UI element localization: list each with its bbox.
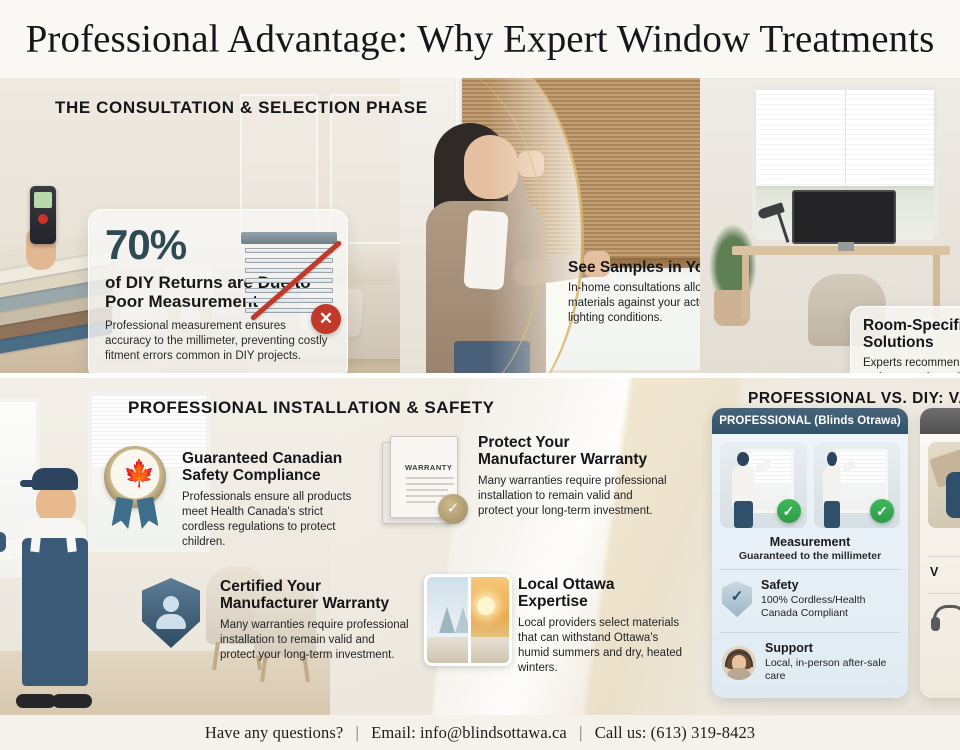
glove [0, 532, 6, 552]
feature-title: Protect Your Manufacturer Warranty [478, 434, 668, 469]
contact-footer: Have any questions? | Email: info@blinds… [0, 715, 960, 750]
headset-agent-icon [722, 646, 756, 680]
sun-icon [477, 597, 495, 615]
installation-photo: ✓ [814, 442, 901, 528]
legs [824, 501, 840, 528]
comparison-heading: PROFESSIONAL VS. DIY: VALUE [748, 390, 960, 408]
feature-body: Many warranties require professional ins… [220, 618, 410, 663]
blind-headrail [241, 232, 337, 244]
four-season-window-icon [424, 574, 512, 666]
consultation-section: See Samples in Your Own Light In-home co… [0, 78, 960, 375]
footer-question: Have any questions? [205, 723, 343, 742]
shoulders [727, 668, 751, 680]
certificate-label: WARRANTY [405, 463, 452, 472]
diy-row-value: V [928, 556, 960, 586]
overalls [22, 538, 88, 686]
feature-local-ottawa: Local Ottawa Expertise Local providers s… [518, 576, 688, 675]
page-title: Professional Advantage: Why Expert Windo… [26, 17, 935, 62]
certificate-seal-icon: ✓ [438, 494, 468, 524]
feature-title: Certified Your Manufacturer Warranty [220, 578, 410, 613]
head [827, 452, 837, 466]
maple-leaf-medal-icon: 🍁 [104, 446, 166, 524]
maple-leaf-icon: 🍁 [123, 459, 147, 489]
diy-row-support [928, 593, 960, 639]
feature-protect-warranty: Protect Your Manufacturer Warranty Many … [478, 434, 668, 519]
shirt [463, 210, 508, 291]
head [737, 452, 749, 466]
comparison-column-professional: PROFESSIONAL (Blinds Otrawa) ✓ [712, 408, 908, 698]
footer-email[interactable]: Email: info@blindsottawa.ca [371, 723, 567, 742]
headset-icon [930, 603, 960, 633]
window-mullion [468, 577, 471, 663]
caption-title: Measurement [720, 535, 900, 549]
shield-check-icon [722, 581, 752, 617]
feature-title: Local Ottawa Expertise [518, 576, 688, 611]
samples-text-block: See Samples in Your Own Light In-home co… [568, 259, 700, 326]
diy-photo [928, 442, 960, 528]
person [946, 472, 960, 518]
installation-section-heading: PROFESSIONAL INSTALLATION & SAFETY [128, 398, 494, 418]
footer-separator: | [356, 723, 359, 742]
professional-column-header: PROFESSIONAL (Blinds Otrawa) [712, 408, 908, 434]
shoe [16, 694, 56, 708]
room-card-title: Room-Specific Solutions [863, 317, 960, 351]
legs [734, 501, 753, 528]
x-badge-icon: ✕ [311, 304, 341, 334]
comparison-column-diy: DIY High V [920, 408, 960, 698]
installer-figure [8, 468, 100, 698]
row-title: Support [765, 642, 898, 656]
jeans [454, 341, 530, 375]
plant-icon [706, 218, 760, 298]
shade-divider [845, 90, 846, 186]
infographic-poster: Professional Advantage: Why Expert Windo… [0, 0, 960, 750]
feature-body: Local providers select materials that ca… [518, 616, 688, 676]
room-specific-card: Room-Specific Solutions Experts recommen… [850, 306, 960, 375]
consultation-scene: See Samples in Your Own Light In-home co… [400, 78, 700, 375]
caption-title: High [928, 535, 960, 549]
row-title: Safety [761, 579, 898, 593]
consultation-section-heading: THE CONSULTATION & SELECTION PHASE [55, 98, 428, 118]
comparison-row-safety: Safety 100% Cordless/Health Canada Compl… [720, 569, 900, 625]
warranty-certificate-icon: WARRANTY ✓ [382, 436, 466, 524]
row-sub: Local, in-person after-sale care [765, 657, 898, 683]
check-badge-icon: ✓ [870, 499, 894, 523]
worker-figure [817, 449, 850, 528]
caption-sub: Guaranteed to the millimeter [720, 550, 900, 562]
feature-body: Many warranties require professional ins… [478, 474, 668, 519]
laser-measure-icon [30, 186, 56, 244]
measurement-caption: Measurement Guaranteed to the millimeter [720, 535, 900, 562]
monitor-icon [792, 190, 896, 244]
feature-body: Professionals ensure all products meet H… [182, 490, 358, 550]
body [823, 466, 841, 506]
diy-column-header: DIY [920, 408, 960, 434]
broken-blind-icon: ✕ [241, 232, 337, 328]
row-title: V [930, 566, 938, 580]
shoe [52, 694, 92, 708]
feature-certified-warranty: Certified Your Manufacturer Warranty Man… [220, 578, 410, 663]
check-badge-icon: ✓ [777, 499, 801, 523]
body [732, 466, 754, 506]
samples-title: See Samples in Your Own Light [568, 259, 700, 276]
footer-phone[interactable]: Call us: (613) 319-8423 [595, 723, 755, 742]
feature-title: Guaranteed Canadian Safety Compliance [182, 450, 358, 485]
footer-separator: | [579, 723, 582, 742]
tree-icon [439, 607, 455, 633]
measurement-photo: ✓ [720, 442, 807, 528]
consultant-figure [408, 105, 598, 375]
comparison-panel: PROFESSIONAL VS. DIY: VALUE PROFESSIONAL… [700, 378, 960, 715]
comparison-row-support: Support Local, in-person after-sale care [720, 632, 900, 688]
person-head [163, 596, 179, 612]
person-body [156, 614, 186, 629]
cap-icon [32, 468, 78, 490]
samples-body: In-home consultations allow you to match… [568, 281, 700, 326]
diy-caption: High [928, 535, 960, 549]
row-sub: 100% Cordless/Health Canada Compliant [761, 594, 898, 620]
footer-text: Have any questions? | Email: info@blinds… [205, 723, 755, 743]
title-bar: Professional Advantage: Why Expert Windo… [0, 0, 960, 78]
feature-canadian-safety: Guaranteed Canadian Safety Compliance Pr… [182, 450, 358, 549]
face [464, 135, 518, 199]
diy-column-body: High V [920, 434, 960, 698]
worker-figure [725, 449, 765, 528]
hand [518, 151, 544, 177]
diy-returns-stat-card: 70% of DIY Returns are Due to Poor Measu… [88, 209, 348, 375]
professional-column-body: ✓ ✓ Measurement G [712, 434, 908, 698]
